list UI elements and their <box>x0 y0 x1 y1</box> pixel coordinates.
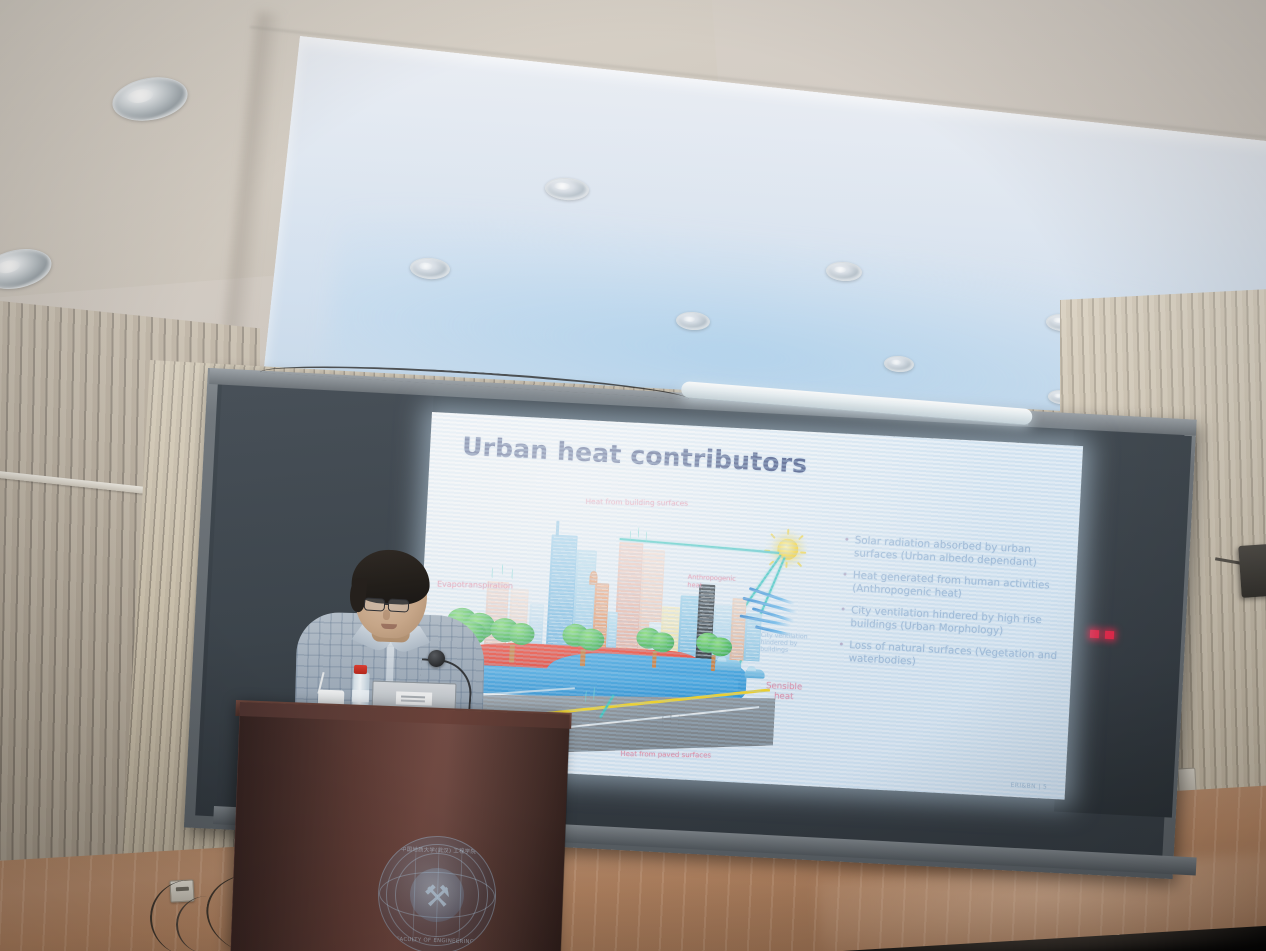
bullet-text: Solar radiation absorbed by urban surfac… <box>854 534 1072 571</box>
tree <box>559 623 609 667</box>
bullet-text: City ventilation hindered by high rise b… <box>850 604 1068 641</box>
glasses-lens-right <box>388 598 410 612</box>
heat-wave <box>491 567 494 578</box>
tree <box>633 627 679 669</box>
car <box>745 669 765 679</box>
speaker-nose <box>383 610 391 620</box>
label-sensible-heat: Sensible heat <box>765 682 802 703</box>
list-item: • Loss of natural surfaces (Vegetation a… <box>837 638 1066 676</box>
wall-speaker <box>1238 544 1266 598</box>
tree <box>487 617 539 664</box>
bullet-marker: • <box>837 638 844 664</box>
glasses-bridge <box>385 603 389 605</box>
sun-ray <box>800 551 806 553</box>
heat-wave <box>511 568 514 579</box>
heat-wave <box>502 564 505 575</box>
heat-wave <box>638 527 641 538</box>
slide-bullet-list: • Solar radiation absorbed by urban surf… <box>837 534 1072 685</box>
car <box>715 659 742 671</box>
list-item: • Solar radiation absorbed by urban surf… <box>843 534 1072 572</box>
bullet-text: Heat generated from human activities (An… <box>852 569 1070 606</box>
bullet-marker: • <box>843 534 850 560</box>
sun-ray <box>797 562 803 568</box>
laptop-label <box>396 691 432 705</box>
board-led-indicator <box>1090 630 1099 638</box>
label-anthropogenic-heat: Anthropogenic heat <box>687 574 736 591</box>
label-heat-from-paved-surfaces: Heat from paved surfaces <box>620 750 711 760</box>
bullet-marker: • <box>839 604 846 630</box>
list-item: • City ventilation hindered by high rise… <box>839 604 1068 642</box>
slide-title: Urban heat contributors <box>461 432 807 479</box>
list-item: • Heat generated from human activities (… <box>841 569 1070 607</box>
bottle-label <box>352 690 369 703</box>
label-evapotranspiration: Evapotranspiration <box>437 579 513 590</box>
board-led-indicator <box>1105 631 1114 639</box>
glasses-lens-left <box>364 597 386 611</box>
sun-ray <box>787 529 789 535</box>
bottle-cap <box>354 665 367 674</box>
slide-footer: ERI&BN | 5 <box>1010 782 1047 791</box>
sun-ray <box>798 535 804 541</box>
bullet-marker: • <box>841 569 848 595</box>
building-dome <box>589 570 598 584</box>
lecture-hall-photo: Urban heat contributors Heat from buildi… <box>0 0 1266 951</box>
sun-ray <box>770 533 776 539</box>
emblem-hammer-icon: ⚒ <box>423 879 451 915</box>
university-emblem: ⚒ 中国地质大学(武汉) 工程学院 FACULTY OF ENGINEERING <box>376 834 498 951</box>
label-city-ventilation: City ventilation hindered by buildings <box>760 632 808 655</box>
label-heat-from-building-surfaces: Heat from building surfaces <box>585 498 688 508</box>
sun-ray <box>785 562 787 568</box>
bullet-text: Loss of natural surfaces (Vegetation and… <box>848 639 1066 676</box>
